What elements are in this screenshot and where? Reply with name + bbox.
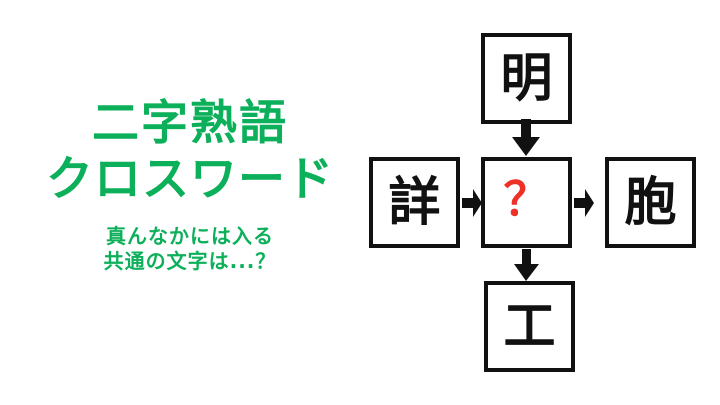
arrow-down-icon [511,119,541,157]
headline-block: 二字熟語 クロスワード 真んなかには入る 共通の文字は...？ [0,96,380,274]
puzzle-slide: 二字熟語 クロスワード 真んなかには入る 共通の文字は...？ 明 詳 ？ 胞 … [0,0,720,405]
arrow-down-icon [514,249,540,282]
puzzle-character-bottom: 工 [503,301,555,353]
puzzle-cell-bottom: 工 [484,281,575,372]
puzzle-character-right: 胞 [624,177,676,229]
puzzle-cell-left: 詳 [369,157,460,248]
title-line-2: クロスワード [0,152,380,208]
puzzle-cell-center-answer[interactable]: ？ [481,157,572,248]
arrow-right-icon [574,188,595,218]
subtitle-block: 真んなかには入る 共通の文字は...？ [0,224,380,274]
puzzle-character-top: 明 [500,53,552,105]
subtitle-line-1: 真んなかには入る [0,224,380,249]
subtitle-line-2: 共通の文字は...？ [0,249,380,274]
puzzle-cell-top: 明 [481,33,572,124]
puzzle-character-left: 詳 [388,177,440,229]
title-line-1: 二字熟語 [0,96,380,152]
puzzle-cell-right: 胞 [605,157,696,248]
arrow-right-icon [462,188,483,218]
puzzle-answer-question-mark: ？ [504,176,550,222]
